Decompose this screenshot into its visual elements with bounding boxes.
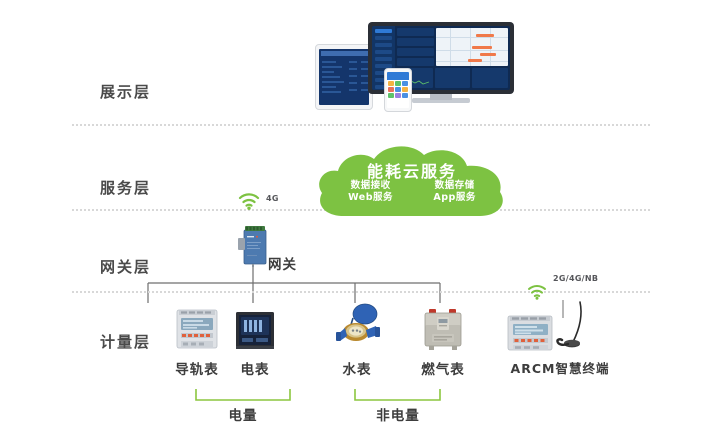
arcm-terminal-device-icon bbox=[504, 312, 558, 354]
cloud-service-node: 能耗云服务 数据接收 Web服务 数据存储 App服务 bbox=[312, 146, 512, 220]
cloud-item-web-service: Web服务 bbox=[348, 192, 393, 204]
gateway-label: 网关 bbox=[268, 253, 318, 273]
electric-meter-label: 电表 bbox=[230, 358, 280, 378]
wifi-icon bbox=[238, 192, 260, 210]
separator-gateway-metering bbox=[72, 291, 650, 293]
tablet-body bbox=[315, 44, 373, 110]
phone-body bbox=[384, 68, 412, 112]
antenna-icon bbox=[556, 300, 592, 354]
phone-app-grid bbox=[387, 80, 409, 99]
tablet-screen bbox=[319, 49, 369, 105]
dashboard-main bbox=[395, 26, 510, 90]
water-meter-icon bbox=[334, 302, 382, 352]
bracket-label-non-electric: 非电量 bbox=[367, 404, 429, 424]
din-rail-meter-icon bbox=[172, 306, 222, 352]
dashboard-widgets bbox=[397, 68, 508, 88]
bracket-label-electric: 电量 bbox=[213, 404, 273, 424]
din-rail-meter-label: 导轨表 bbox=[167, 358, 227, 378]
water-meter-label: 水表 bbox=[332, 358, 382, 378]
layer-label-service: 服务层 bbox=[100, 177, 190, 198]
gas-meter-label: 燃气表 bbox=[415, 358, 471, 378]
dashboard-stat-cards bbox=[397, 28, 433, 66]
dashboard-map-panel bbox=[436, 28, 508, 66]
cloud-item-app-service: App服务 bbox=[433, 192, 475, 204]
cloud-column-left: 数据接收 Web服务 bbox=[348, 180, 393, 204]
smart-terminal-uplink-label: 2G/4G/NB bbox=[553, 274, 598, 283]
cloud-item-data-receive: 数据接收 bbox=[348, 180, 393, 192]
wifi-icon bbox=[527, 283, 547, 300]
separator-presentation-service bbox=[72, 124, 650, 126]
cloud-text-block: 能耗云服务 数据接收 Web服务 数据存储 App服务 bbox=[312, 146, 512, 220]
phone-app-header bbox=[387, 72, 409, 80]
cloud-column-right: 数据存储 App服务 bbox=[433, 180, 475, 204]
diagram-canvas: 展示层 服务层 网关层 计量层 bbox=[0, 0, 715, 443]
layer-label-gateway: 网关层 bbox=[100, 256, 190, 277]
layer-label-presentation: 展示层 bbox=[100, 81, 190, 102]
gateway-uplink-label: 4G bbox=[266, 194, 279, 203]
gas-meter-icon bbox=[420, 306, 466, 352]
cloud-title: 能耗云服务 bbox=[312, 158, 512, 182]
electric-meter-icon bbox=[232, 308, 278, 352]
cloud-item-data-storage: 数据存储 bbox=[433, 180, 475, 192]
phone-screen bbox=[387, 72, 409, 108]
smartphone-device bbox=[384, 68, 412, 112]
tablet-device bbox=[315, 44, 373, 110]
smart-terminal-label: ARCM智慧终端 bbox=[505, 358, 615, 377]
